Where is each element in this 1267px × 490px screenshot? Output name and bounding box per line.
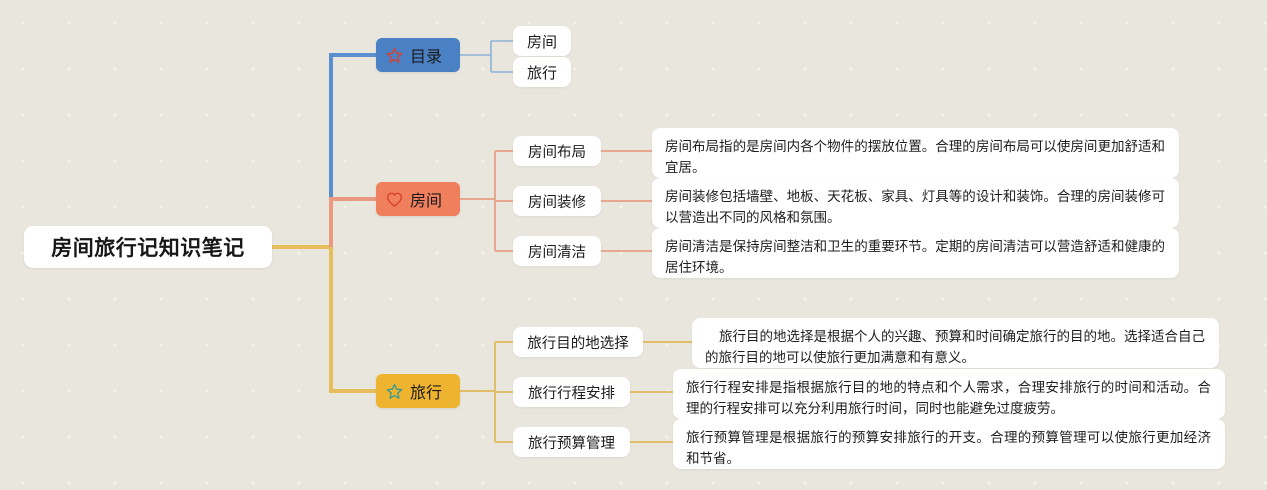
- desc-travel-budget: 旅行预算管理是根据旅行的预算安排旅行的开支。合理的预算管理可以使旅行更加经济和节…: [673, 419, 1225, 469]
- topic-travel-budget[interactable]: 旅行预算管理: [513, 427, 630, 457]
- catalog-child-room[interactable]: 房间: [513, 26, 571, 56]
- topic-room-cleaning[interactable]: 房间清洁: [513, 236, 601, 266]
- desc-travel-destination: 旅行目的地选择是根据个人的兴趣、预算和时间确定旅行的目的地。选择适合自己的旅行目…: [692, 318, 1219, 368]
- topic-room-layout[interactable]: 房间布局: [513, 136, 601, 166]
- topic-room-layout-label: 房间布局: [528, 141, 586, 162]
- branch-node-catalog-label: 目录: [410, 43, 442, 67]
- branch-node-room[interactable]: 房间: [376, 182, 460, 216]
- branch-node-catalog[interactable]: 目录: [376, 38, 460, 72]
- topic-travel-destination-label: 旅行目的地选择: [527, 332, 629, 353]
- catalog-child-travel[interactable]: 旅行: [513, 57, 571, 87]
- topic-travel-destination[interactable]: 旅行目的地选择: [513, 327, 643, 357]
- branch-node-travel[interactable]: 旅行: [376, 374, 460, 408]
- topic-travel-itinerary-label: 旅行行程安排: [528, 382, 615, 403]
- topic-travel-budget-label: 旅行预算管理: [528, 432, 615, 453]
- desc-room-layout: 房间布局指的是房间内各个物件的摆放位置。合理的房间布局可以使房间更加舒适和宜居。: [652, 128, 1179, 178]
- edge-root-to-room: [331, 199, 376, 247]
- mindmap-canvas[interactable]: 房间旅行记知识笔记 目录 房间 旅行 房间 房间布局 房间布局指的是房间内各个物…: [0, 0, 1267, 490]
- desc-travel-itinerary: 旅行行程安排是指根据旅行目的地的特点和个人需求，合理安排旅行的时间和活动。合理的…: [673, 369, 1225, 419]
- catalog-child-room-label: 房间: [527, 31, 557, 52]
- catalog-child-travel-label: 旅行: [527, 62, 557, 83]
- star-outline-icon: [385, 382, 404, 401]
- edge-root-to-travel: [331, 247, 376, 391]
- heart-outline-icon: [385, 190, 404, 209]
- star-outline-icon: [385, 46, 404, 65]
- topic-room-decoration-label: 房间装修: [528, 191, 586, 212]
- root-node-label: 房间旅行记知识笔记: [51, 232, 245, 262]
- desc-room-cleaning: 房间清洁是保持房间整洁和卫生的重要环节。定期的房间清洁可以营造舒适和健康的居住环…: [652, 228, 1179, 278]
- branch-node-travel-label: 旅行: [410, 379, 442, 403]
- root-node[interactable]: 房间旅行记知识笔记: [24, 226, 272, 268]
- topic-travel-itinerary[interactable]: 旅行行程安排: [513, 377, 630, 407]
- edge-root-to-catalog: [331, 55, 376, 247]
- topic-room-cleaning-label: 房间清洁: [528, 241, 586, 262]
- desc-room-decoration: 房间装修包括墙壁、地板、天花板、家具、灯具等的设计和装饰。合理的房间装修可以营造…: [652, 178, 1179, 228]
- topic-room-decoration[interactable]: 房间装修: [513, 186, 601, 216]
- branch-node-room-label: 房间: [410, 187, 442, 211]
